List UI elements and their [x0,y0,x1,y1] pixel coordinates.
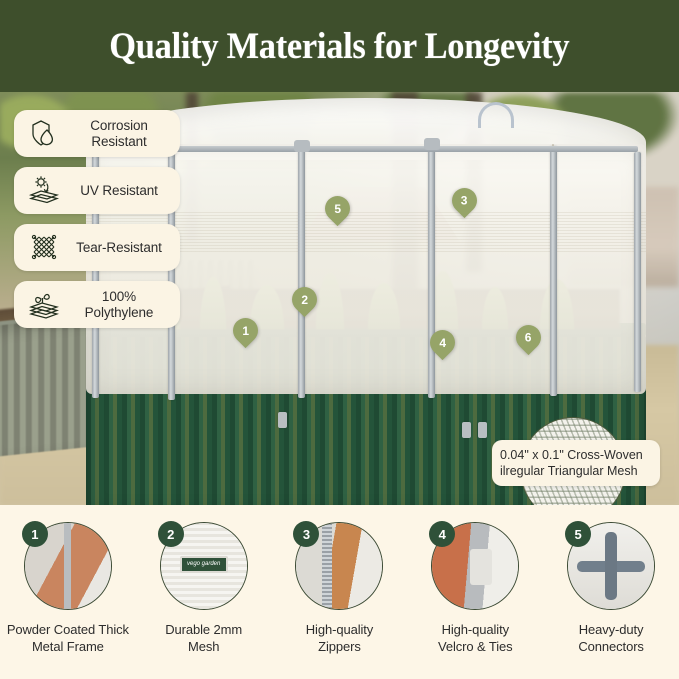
page-title: Quality Materials for Longevity [110,25,570,68]
thumbnail-wrapper: 3 [295,522,383,610]
thumbnail-wrapper: 4 [431,522,519,610]
bottom-feature-label: Heavy-duty Connectors [578,621,643,655]
thumbnail-wrapper: 5 [567,522,655,610]
mesh-callout-line1: 0.04" x 0.1" Cross-Woven [500,447,652,463]
feature-badge-label: Tear-Resistant [64,240,180,256]
zipper-pull [462,422,471,438]
thumbnail-wrapper: 2 vego garden [160,522,248,610]
mesh-callout-line2: ilregular Triangular Mesh [500,463,652,479]
product-feature-infographic: Quality Materials for Longevity [0,0,679,679]
bottom-feature-3[interactable]: 3 High-quality Zippers [272,522,408,655]
number-badge-1: 1 [22,521,48,547]
feature-badge-tear-resistant[interactable]: Tear-Resistant [14,224,180,271]
bottom-feature-label: High-quality Velcro & Ties [438,621,513,655]
feature-badge-label: 100% Polythylene [64,289,180,321]
frame-connector [424,138,440,150]
zipper-pull [278,412,287,428]
feature-badge-uv-resistant[interactable]: UV Resistant [14,167,180,214]
bottom-feature-1[interactable]: 1 Powder Coated Thick Metal Frame [0,522,136,655]
bottom-feature-strip: 1 Powder Coated Thick Metal Frame 2 vego… [0,505,679,679]
frame-pole [298,142,305,398]
frame-pole [634,152,641,392]
bottom-feature-label: Durable 2mm Mesh [165,621,242,655]
bottom-feature-4[interactable]: 4 High-quality Velcro & Ties [407,522,543,655]
bottom-feature-label: Powder Coated Thick Metal Frame [7,621,129,655]
frame-pole [550,146,557,396]
bottom-feature-row: 1 Powder Coated Thick Metal Frame 2 vego… [0,505,679,655]
shield-droplet-icon [24,117,64,151]
mesh-callout-label: 0.04" x 0.1" Cross-Woven ilregular Trian… [492,440,660,486]
header-banner: Quality Materials for Longevity [0,0,679,92]
frame-pole [428,140,435,398]
feature-badge-polythylene[interactable]: 100% Polythylene [14,281,180,328]
brand-tag: vego garden [180,556,228,573]
bottom-feature-label: High-quality Zippers [306,621,373,655]
zipper-pull [478,422,487,438]
leaf-layers-icon [24,288,64,322]
number-badge-2: 2 [158,521,184,547]
feature-badge-list: Corrosion Resistant UV Resistant [14,110,180,338]
sun-fabric-icon [24,174,64,208]
number-badge-5: 5 [565,521,591,547]
bottom-feature-2[interactable]: 2 vego garden Durable 2mm Mesh [136,522,272,655]
feature-badge-label: UV Resistant [64,183,180,199]
frame-connector [294,140,310,152]
thumbnail-wrapper: 1 [24,522,112,610]
bottom-feature-5[interactable]: 5 Heavy-duty Connectors [543,522,679,655]
feature-badge-label: Corrosion Resistant [64,118,180,150]
feature-badge-corrosion-resistant[interactable]: Corrosion Resistant [14,110,180,157]
mesh-net-icon [24,231,64,265]
